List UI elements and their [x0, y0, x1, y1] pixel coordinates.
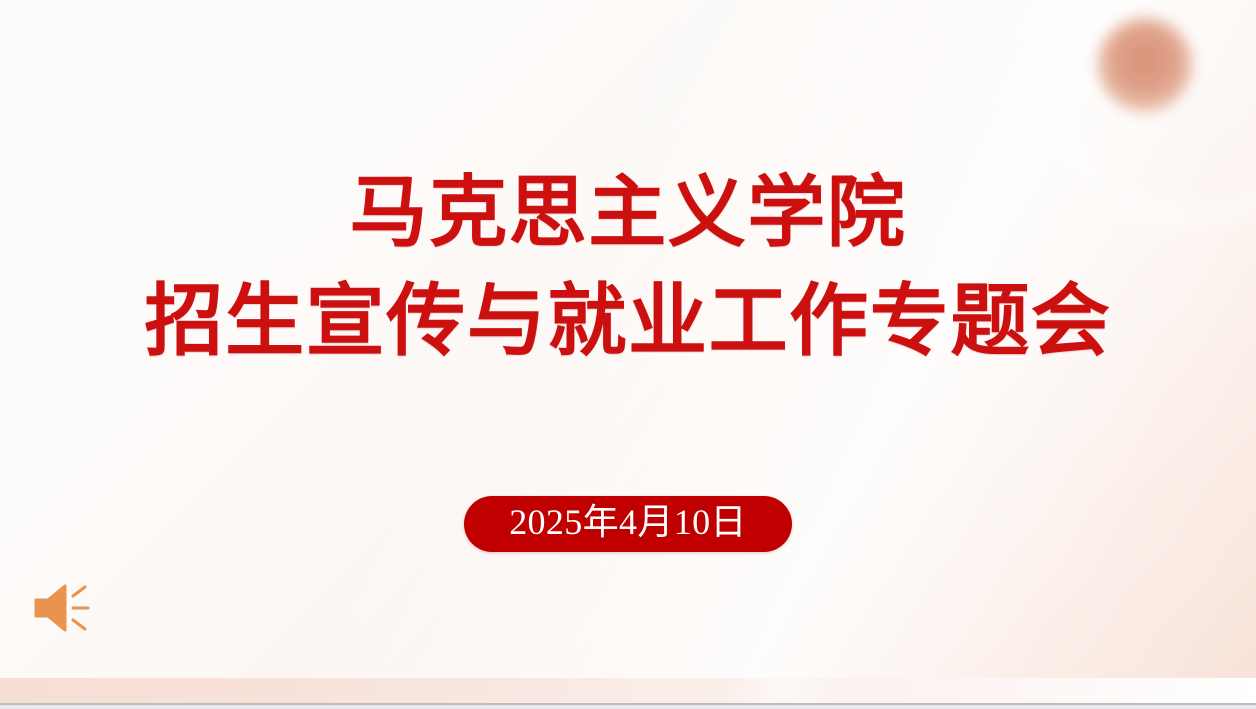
slide-title-line-2: 招生宣传与就业工作专题会	[0, 276, 1256, 370]
slide-title-block: 马克思主义学院 招生宣传与就业工作专题会	[0, 166, 1256, 370]
date-badge: 2025年4月10日	[464, 496, 792, 552]
decorative-sun-circle-icon	[1098, 18, 1192, 112]
slide-canvas: 马克思主义学院 招生宣传与就业工作专题会 2025年4月10日	[0, 0, 1256, 704]
presentation-slide: 马克思主义学院 招生宣传与就业工作专题会 2025年4月10日	[0, 0, 1256, 709]
speaker-icon-svg	[33, 582, 97, 634]
decorative-arc-outer	[1040, 0, 1256, 230]
slide-title-line-1: 马克思主义学院	[0, 166, 1256, 260]
decorative-arc-icon	[1118, 0, 1256, 208]
speaker-icon[interactable]	[33, 582, 97, 634]
date-badge-container: 2025年4月10日	[0, 496, 1256, 552]
background-sheen	[0, 0, 1256, 704]
bottom-accent-strip	[0, 678, 1256, 704]
app-gutter	[0, 705, 1256, 709]
